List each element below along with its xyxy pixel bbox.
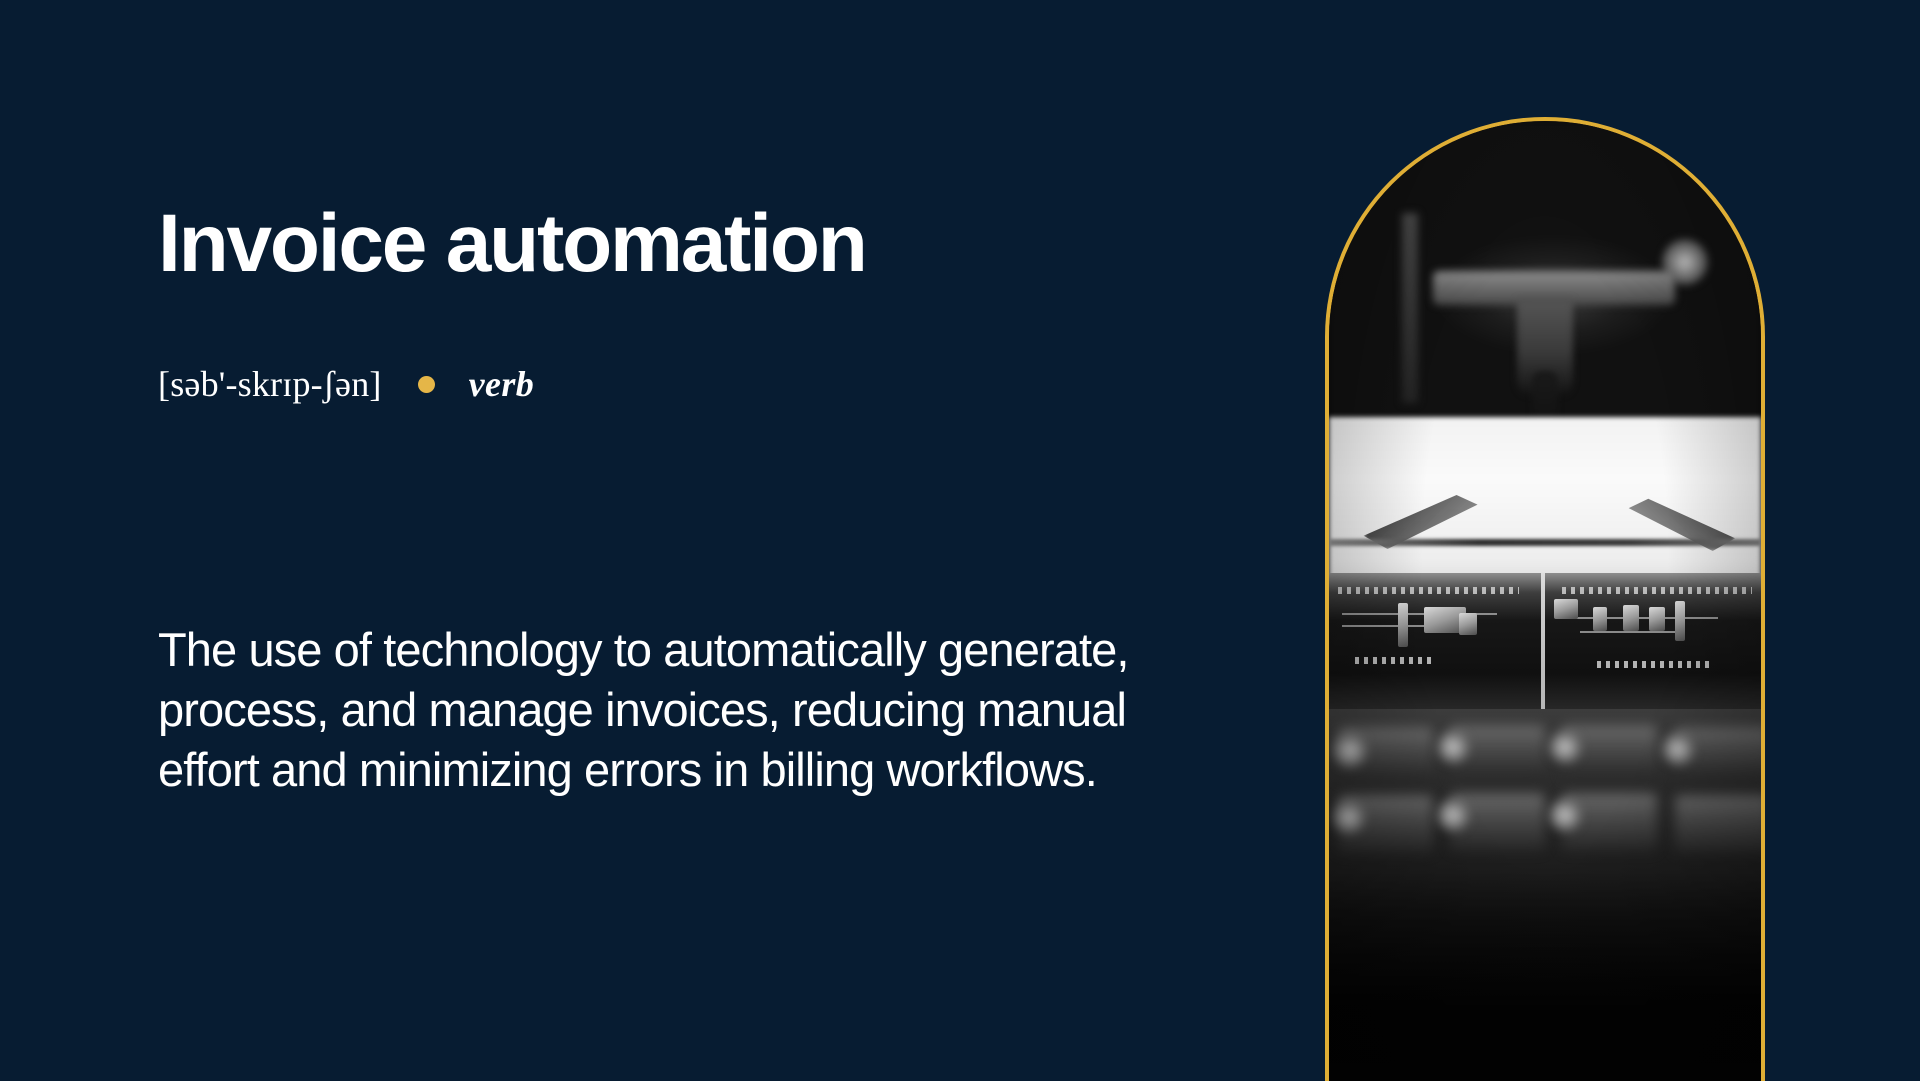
connector-highlight xyxy=(1437,731,1469,763)
pcb-chip xyxy=(1675,601,1685,641)
connector-highlight xyxy=(1437,799,1469,831)
connector-highlight xyxy=(1662,733,1694,765)
bright-backdrop-band xyxy=(1329,417,1761,597)
connector-block xyxy=(1675,795,1761,853)
part-of-speech-label: verb xyxy=(469,366,535,402)
circuit-board-photo xyxy=(1329,121,1761,1081)
pcb-pad-row xyxy=(1597,661,1709,668)
definition-slide: Invoice automation [səb'-skrɪp-ʃən] verb… xyxy=(0,0,1920,1081)
pcb-chip xyxy=(1649,607,1665,631)
pcb-pad-row xyxy=(1338,587,1519,594)
pcb-detail-band xyxy=(1329,573,1761,713)
phonetic-spelling: [səb'-skrɪp-ʃən] xyxy=(158,366,382,402)
text-column: Invoice automation [səb'-skrɪp-ʃən] verb… xyxy=(158,0,1208,1081)
machine-post-icon xyxy=(1402,213,1418,403)
pronunciation-row: [səb'-skrɪp-ʃən] verb xyxy=(158,366,534,402)
pcb-chip xyxy=(1623,605,1639,631)
term-title: Invoice automation xyxy=(158,203,866,285)
pcb-trace xyxy=(1580,631,1684,633)
separator-dot-icon xyxy=(418,376,435,393)
connector-shadow xyxy=(1329,871,1761,1081)
arch-image-panel xyxy=(1325,117,1765,1081)
pcb-chip xyxy=(1398,603,1408,647)
pcb-pad-row xyxy=(1562,587,1752,594)
pcb-chip xyxy=(1459,613,1477,635)
pcb-chip xyxy=(1554,599,1578,619)
definition-text: The use of technology to automatically g… xyxy=(158,620,1168,800)
pcb-chip xyxy=(1593,607,1607,631)
connector-rows-region xyxy=(1329,709,1761,1081)
pcb-pad-row xyxy=(1355,657,1433,664)
gantry-rail xyxy=(1329,539,1761,546)
